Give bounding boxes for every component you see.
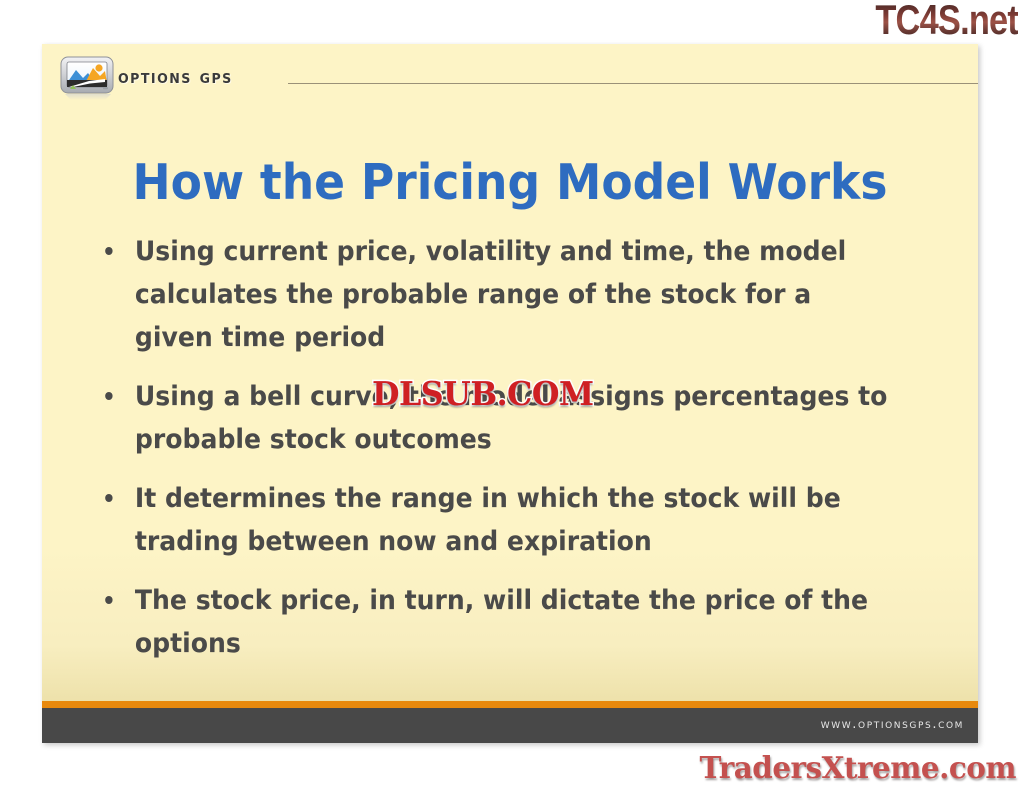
list-item: The stock price, in turn, will dictate t… [94, 579, 890, 665]
bullet-dot-icon [105, 596, 112, 604]
bullet-list: Using current price, volatility and time… [94, 230, 950, 681]
list-item: It determines the range in which the sto… [94, 477, 890, 563]
bullet-dot-icon [105, 247, 112, 255]
bullet-dot-icon [105, 392, 112, 400]
footer-accent-stripe [42, 701, 978, 708]
logo-wordmark: Options GPS [118, 66, 233, 88]
footer-url: www.OptionsGPS.com [821, 717, 964, 732]
slide-footer: www.OptionsGPS.com [42, 708, 978, 743]
list-item-text: Using current price, volatility and time… [135, 230, 890, 359]
tradersxtreme-brand: TradersXtreme.com [699, 751, 1016, 786]
slide-header: Options GPS [42, 44, 978, 106]
page-title: How the Pricing Model Works [75, 155, 945, 211]
bullet-dot-icon [105, 494, 112, 502]
list-item-text: The stock price, in turn, will dictate t… [135, 579, 890, 665]
dlsub-watermark: DLSUB.COM [372, 374, 594, 413]
tc4s-watermark: TC4S.net [875, 0, 1018, 42]
gps-device-icon [59, 56, 117, 102]
header-divider [288, 83, 978, 84]
list-item-text: It determines the range in which the sto… [135, 477, 890, 563]
presentation-slide: Options GPS How the Pricing Model Works … [42, 44, 978, 743]
list-item: Using current price, volatility and time… [94, 230, 890, 359]
